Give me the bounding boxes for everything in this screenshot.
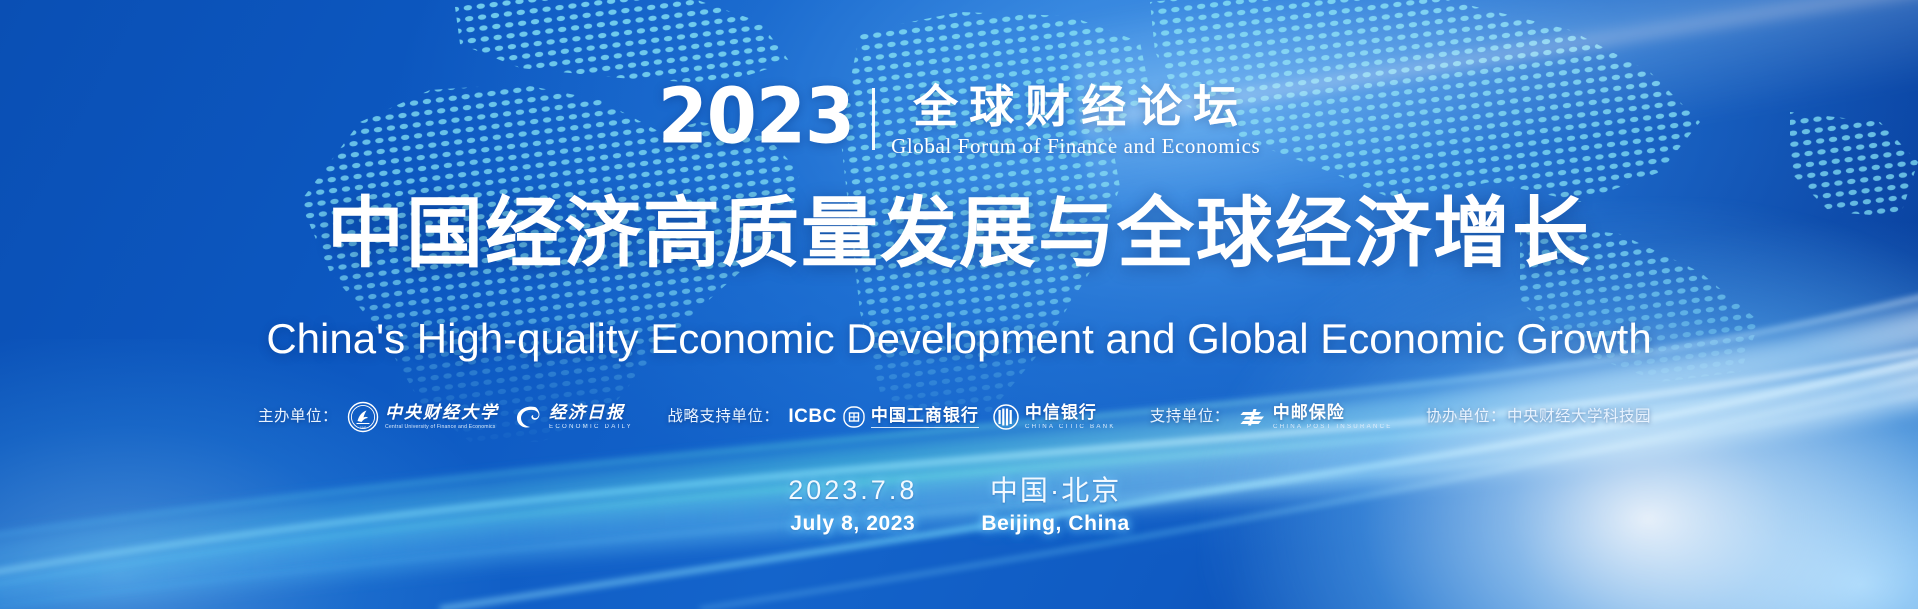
sponsor-name-en: Central University of Finance and Econom… [385, 423, 501, 431]
headline-en: China's High-quality Economic Developmen… [0, 315, 1918, 363]
support-label: 支持单位： [1150, 408, 1230, 426]
brand-lockup: 2023 全球财经论坛 Global Forum of Finance and … [0, 82, 1918, 158]
coorganizer-name: 中央财经大学科技园 [1507, 408, 1651, 426]
sponsor-logo-icbc: ICBC 中国工商银行 [788, 406, 978, 428]
brand-year: 2023 [658, 78, 854, 154]
sponsor-name-cn: 中国工商银行 [871, 407, 979, 425]
strategic-support-label: 战略支持单位： [667, 408, 779, 426]
event-place-cn: 中国·北京 [981, 475, 1129, 506]
brand-title-en: Global Forum of Finance and Economics [891, 134, 1260, 158]
event-date: 2023.7.8 July 8, 2023 [788, 475, 917, 536]
event-date-cn: 2023.7.8 [788, 475, 917, 506]
icbc-underline [871, 427, 979, 428]
economic-daily-swirl-icon [513, 402, 543, 432]
sponsor-logo-citic: 中信银行 CHINA CITIC BANK [993, 404, 1114, 431]
sponsor-logo-china-post-insurance: 中邮保险 CHINA POST INSURANCE [1239, 404, 1390, 431]
sponsor-logo-economic-daily: 经济日报 ECONOMIC DAILY [513, 402, 631, 432]
icbc-wordmark: ICBC [788, 407, 836, 427]
coorganizer-label: 协办单位： [1426, 408, 1506, 426]
sponsor-name-cn: 中邮保险 [1273, 404, 1390, 422]
china-post-insurance-icon [1239, 406, 1267, 428]
sponsor-name-cn: 中信银行 [1025, 404, 1114, 422]
sponsor-strip: 主办单位： 1949 中央财经大学 Central University of … [0, 401, 1918, 433]
conference-banner: 2023 全球财经论坛 Global Forum of Finance and … [0, 0, 1918, 609]
sponsor-name-en: ECONOMIC DAILY [549, 423, 633, 431]
event-place-en: Beijing, China [981, 511, 1129, 536]
headline-cn: 中国经济高质量发展与全球经济增长 [0, 190, 1918, 278]
brand-divider [872, 88, 875, 150]
host-label: 主办单位： [258, 408, 338, 426]
icbc-coin-icon [843, 406, 865, 428]
sponsor-logo-cufe: 1949 中央财经大学 Central University of Financ… [347, 401, 499, 433]
sponsor-name-cn: 中央财经大学 [385, 404, 499, 422]
event-meta: 2023.7.8 July 8, 2023 中国·北京 Beijing, Chi… [0, 475, 1918, 536]
citic-bank-icon [993, 404, 1019, 430]
sponsor-name-en: CHINA CITIC BANK [1025, 423, 1116, 431]
sponsor-name-en: CHINA POST INSURANCE [1273, 423, 1393, 431]
svg-text:1949: 1949 [360, 425, 367, 429]
brand-title-cn: 全球财经论坛 [902, 82, 1249, 132]
event-date-en: July 8, 2023 [788, 511, 917, 536]
event-place: 中国·北京 Beijing, China [981, 475, 1129, 536]
sponsor-name-cn: 经济日报 [549, 404, 631, 422]
cufe-emblem-icon: 1949 [347, 401, 379, 433]
